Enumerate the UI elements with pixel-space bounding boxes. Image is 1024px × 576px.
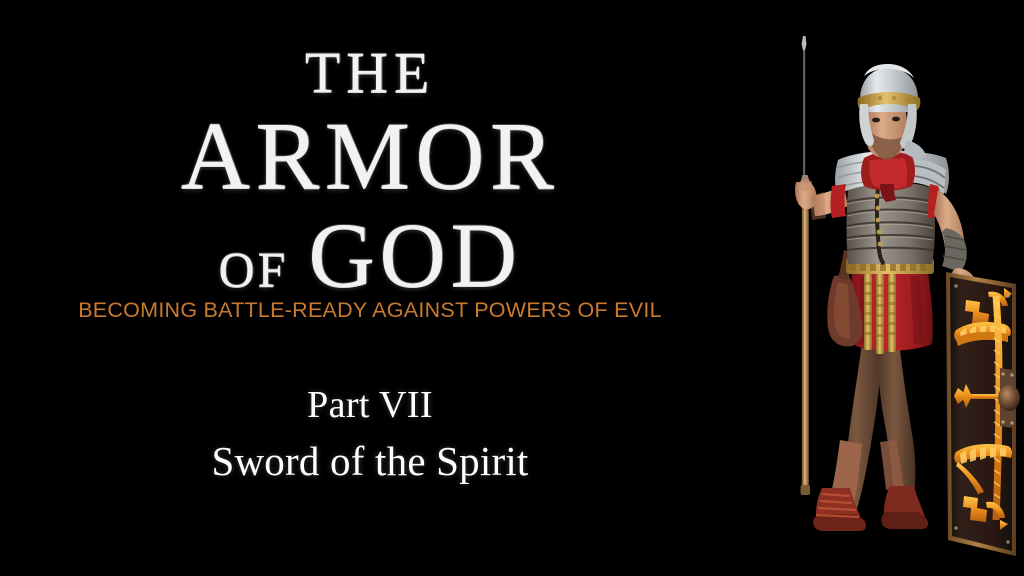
series-subtitle: BECOMING BATTLE-READY AGAINST POWERS OF … xyxy=(0,298,740,323)
shield-boss xyxy=(998,368,1020,428)
scutum-shield xyxy=(946,272,1020,556)
roman-legionary-illustration xyxy=(760,0,1024,576)
legs xyxy=(830,330,915,512)
title-word-god: GOD xyxy=(308,209,521,301)
title-word-of: OF xyxy=(218,244,288,294)
title-line-armor: ARMOR xyxy=(0,108,740,204)
session-part-label: Part VII xyxy=(0,383,740,427)
title-text-block: THE ARMOR OF GOD BECOMING BATTLE-READY A… xyxy=(0,0,740,576)
title-slide: THE ARMOR OF GOD BECOMING BATTLE-READY A… xyxy=(0,0,1024,576)
apron-straps xyxy=(864,274,896,354)
caligae-sandals xyxy=(813,486,928,531)
title-line-of-god: OF GOD xyxy=(0,209,740,299)
galea-helmet xyxy=(858,64,926,160)
session-topic: Sword of the Spirit xyxy=(0,437,740,485)
title-line-the: THE xyxy=(0,44,740,102)
pilum-spear xyxy=(800,36,810,495)
